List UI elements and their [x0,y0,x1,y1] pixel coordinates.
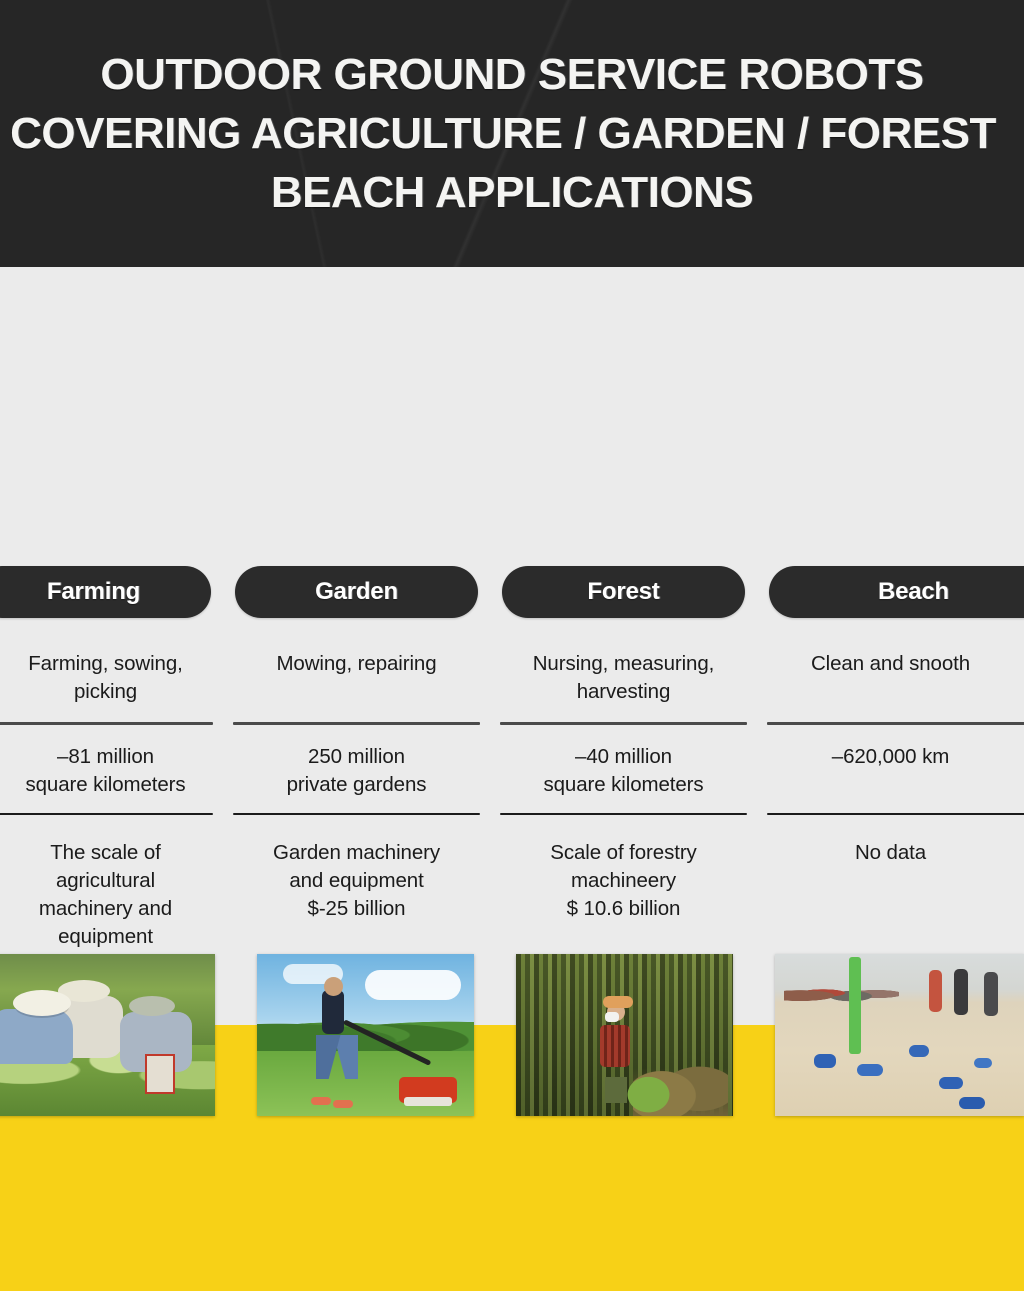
forest-scale: –40 million square kilometers [500,743,747,799]
column-forest: Forest Nursing, measuring, harvesting –4… [490,566,757,966]
garden-tasks: Mowing, repairing [233,650,480,708]
column-garden: Garden Mowing, repairing 250 million pri… [223,566,490,966]
beach-person-one [929,970,942,1012]
pill-beach[interactable]: Beach [769,566,1024,618]
worker-one-body [0,1009,73,1064]
forest-divider-1 [500,722,747,725]
worker-three-hat [129,996,175,1016]
forester-hat [603,996,633,1008]
beach-tasks: Clean and snooth [767,650,1014,708]
cloud-icon [365,970,461,1000]
forester-mask [605,1012,619,1022]
forest-photo [516,954,733,1116]
garden-divider-1 [233,722,480,725]
farming-divider-2 [0,813,213,815]
mower-person-shoe-left [311,1097,331,1105]
garden-market: Garden machinery and equipment $-25 bill… [233,839,480,925]
comparison-columns: Farming Farming, sowing, picking –81 mil… [0,566,1024,966]
farming-tasks: Farming, sowing, picking [0,650,213,708]
header-band: OUTDOOR GROUND SERVICE ROBOTS COVERING A… [0,0,1024,267]
garden-scale: 250 million private gardens [233,743,480,799]
pill-garden[interactable]: Garden [235,566,478,618]
garden-divider-2 [233,813,480,815]
farming-divider-1 [0,722,213,725]
mower-person-torso [322,990,344,1034]
mower-person-shoe-right [333,1100,353,1108]
beach-person-three [984,972,998,1016]
forest-tasks: Nursing, measuring, harvesting [500,650,747,708]
beach-litter-2 [857,1064,883,1076]
beach-scale: –620,000 km [767,743,1014,799]
forester-shirt [600,1025,630,1067]
content-board: Farming Farming, sowing, picking –81 mil… [0,267,1024,1024]
mower-person-legs [316,1035,358,1079]
picking-bag [145,1054,175,1094]
worker-one-hat [13,990,71,1016]
title-line-3: BEACH APPLICATIONS [0,163,1024,222]
garden-photo [257,954,474,1116]
pill-forest[interactable]: Forest [502,566,745,618]
beach-litter-5 [974,1058,992,1068]
beach-divider-1 [767,722,1024,725]
beach-market: No data [767,839,1014,925]
photo-strip [0,954,1024,1116]
beach-litter-6 [959,1097,985,1109]
page-title: OUTDOOR GROUND SERVICE ROBOTS COVERING A… [0,45,1024,222]
beach-divider-2 [767,813,1024,815]
pill-farming[interactable]: Farming [0,566,211,618]
beach-litter-1 [814,1054,836,1068]
farming-photo [0,954,215,1116]
beach-crowd [784,980,899,1006]
column-farming: Farming Farming, sowing, picking –81 mil… [0,566,223,966]
forest-market: Scale of forestry machineery $ 10.6 bill… [500,839,747,925]
beach-person-two [954,969,968,1015]
forest-divider-2 [500,813,747,815]
forest-shrub [616,1067,681,1112]
title-line-1: OUTDOOR GROUND SERVICE ROBOTS [0,45,1024,104]
beach-pole [849,957,861,1054]
farming-scale: –81 million square kilometers [0,743,213,799]
lawn-mower-deck [404,1097,452,1106]
beach-photo [775,954,1024,1116]
beach-litter-4 [939,1077,963,1089]
beach-litter-3 [909,1045,929,1057]
title-line-2: COVERING AGRICULTURE / GARDEN / FOREST [0,104,1024,163]
mower-person-head [324,977,343,996]
column-beach: Beach Clean and snooth –620,000 km No da… [757,566,1024,966]
